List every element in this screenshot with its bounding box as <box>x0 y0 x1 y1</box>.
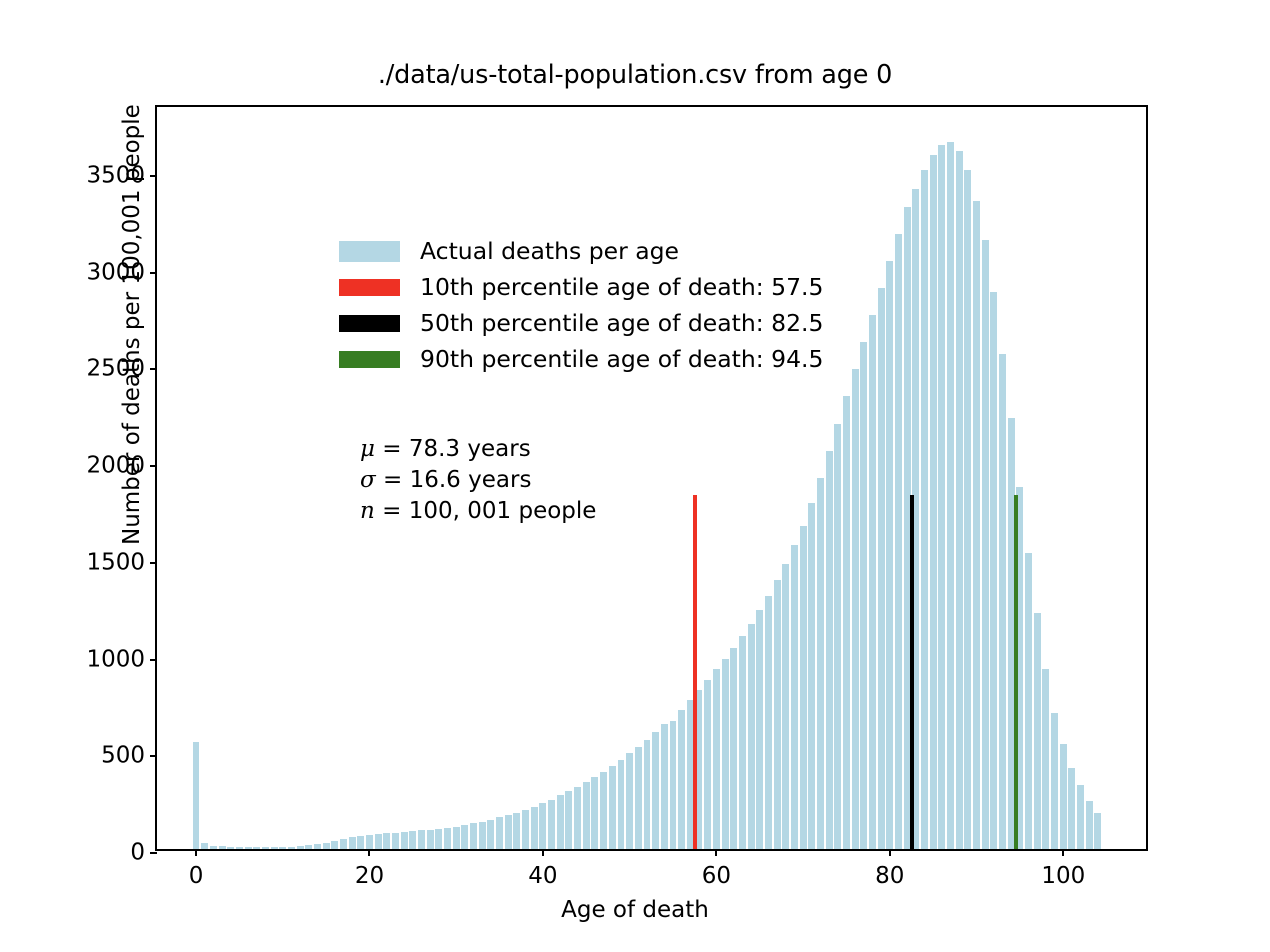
histogram-bar <box>401 832 408 849</box>
x-axis-label: Age of death <box>0 897 1270 923</box>
y-tick-mark <box>150 272 157 274</box>
chart-title: ./data/us-total-population.csv from age … <box>0 60 1270 90</box>
figure-canvas: ./data/us-total-population.csv from age … <box>0 0 1270 952</box>
90th-percentile-line <box>1014 495 1018 849</box>
histogram-bar <box>1025 553 1032 849</box>
sigma-equals: = <box>376 467 410 493</box>
histogram-bar <box>964 170 971 849</box>
legend-label: 90th percentile age of death: 94.5 <box>420 347 823 371</box>
histogram-bar <box>383 833 390 849</box>
histogram-bar <box>496 817 503 849</box>
histogram-bar <box>392 833 399 849</box>
histogram-bar <box>1034 613 1041 849</box>
histogram-bar <box>262 847 269 849</box>
histogram-bar <box>565 791 572 849</box>
histogram-bar <box>513 813 520 849</box>
statistics-annotation: μ = 78.3 years σ = 16.6 years n = 100, 0… <box>360 434 596 527</box>
y-tick-mark <box>150 465 157 467</box>
histogram-bar <box>539 803 546 849</box>
sigma-symbol: σ <box>360 467 376 493</box>
mu-value: 78.3 years <box>409 436 531 462</box>
histogram-bar <box>817 478 824 849</box>
n-symbol: n <box>360 498 375 524</box>
histogram-bar <box>366 835 373 849</box>
histogram-bar <box>193 742 200 849</box>
y-tick-label: 2500 <box>37 358 157 381</box>
histogram-bar <box>748 624 755 849</box>
histogram-bar <box>644 740 651 849</box>
y-tick-label: 1000 <box>37 648 157 671</box>
n-value: 100, 001 people <box>409 498 597 524</box>
histogram-bar <box>297 846 304 849</box>
stat-count: n = 100, 001 people <box>360 496 596 527</box>
y-tick-mark <box>150 659 157 661</box>
stat-stddev: σ = 16.6 years <box>360 465 596 496</box>
legend-color-swatch <box>339 241 400 262</box>
histogram-bar <box>956 151 963 849</box>
histogram-bar <box>1068 768 1075 849</box>
x-tick-mark <box>542 849 544 856</box>
y-tick-mark <box>150 175 157 177</box>
histogram-bar <box>522 810 529 849</box>
plot-axes: Number of deaths per 100,001 people 0500… <box>155 105 1148 851</box>
histogram-bar <box>505 815 512 849</box>
histogram-bar <box>722 659 729 850</box>
histogram-bar <box>357 836 364 849</box>
histogram-bar <box>531 807 538 849</box>
histogram-bar <box>765 596 772 849</box>
histogram-bar <box>574 787 581 849</box>
y-tick-label: 500 <box>37 745 157 768</box>
histogram-bar <box>730 648 737 849</box>
histogram-bar <box>852 369 859 849</box>
histogram-bar <box>435 829 442 849</box>
sigma-value: 16.6 years <box>410 467 532 493</box>
histogram-bar <box>626 753 633 849</box>
y-tick-mark <box>150 368 157 370</box>
histogram-bar <box>869 315 876 849</box>
histogram-bar <box>661 724 668 849</box>
histogram-bar <box>1051 713 1058 849</box>
y-tick-label: 0 <box>37 842 157 865</box>
histogram-bar <box>800 526 807 849</box>
histogram-bar <box>973 201 980 849</box>
legend-label: Actual deaths per age <box>420 239 679 263</box>
legend-item[interactable]: Actual deaths per age <box>339 233 939 269</box>
histogram-bar <box>826 451 833 849</box>
histogram-bar <box>808 503 815 849</box>
histogram-bar <box>938 145 945 849</box>
histogram-bar <box>990 292 997 849</box>
50th-percentile-line <box>910 495 914 849</box>
histogram-bar <box>774 580 781 849</box>
legend-color-swatch <box>339 351 400 368</box>
histogram-bar <box>782 564 789 849</box>
histogram-bar <box>418 830 425 849</box>
histogram-bar <box>470 823 477 849</box>
legend-item[interactable]: 90th percentile age of death: 94.5 <box>339 341 939 377</box>
histogram-bar <box>1094 813 1101 849</box>
histogram-bar <box>704 680 711 849</box>
x-tick-mark <box>715 849 717 856</box>
histogram-bar <box>860 342 867 849</box>
legend-item[interactable]: 10th percentile age of death: 57.5 <box>339 269 939 305</box>
legend-color-swatch <box>339 279 400 296</box>
histogram-bar <box>453 827 460 849</box>
histogram-bar <box>791 545 798 849</box>
histogram-bar <box>739 636 746 849</box>
histogram-bar <box>279 847 286 849</box>
histogram-bar <box>331 841 338 849</box>
histogram-bar <box>583 782 590 849</box>
histogram-bar <box>670 721 677 849</box>
histogram-bar <box>487 820 494 849</box>
histogram-bar <box>461 825 468 849</box>
histogram-bar <box>349 837 356 849</box>
histogram-bar <box>427 830 434 849</box>
histogram-bar <box>843 396 850 849</box>
histogram-bar <box>557 795 564 849</box>
histogram-bar <box>271 847 278 849</box>
histogram-bar <box>609 766 616 849</box>
histogram-bar <box>635 747 642 850</box>
histogram-bar <box>288 847 295 849</box>
histogram-bar <box>1042 669 1049 849</box>
plot-area <box>157 107 1146 849</box>
histogram-bar <box>340 839 347 849</box>
x-tick-mark <box>368 849 370 856</box>
histogram-bar <box>444 828 451 849</box>
histogram-bar <box>678 710 685 849</box>
y-tick-label: 3000 <box>37 261 157 284</box>
legend-label: 50th percentile age of death: 82.5 <box>420 311 823 335</box>
mu-equals: = <box>375 436 409 462</box>
x-tick-mark <box>889 849 891 856</box>
histogram-bar <box>982 240 989 849</box>
y-tick-label: 1500 <box>37 551 157 574</box>
legend-color-swatch <box>339 315 400 332</box>
histogram-bar <box>947 142 954 849</box>
histogram-bar <box>756 610 763 849</box>
histogram-bar <box>834 424 841 850</box>
histogram-bar <box>591 777 598 849</box>
histogram-bar <box>548 800 555 850</box>
histogram-bar <box>713 669 720 849</box>
histogram-bar <box>375 834 382 849</box>
histogram-bar <box>618 760 625 849</box>
y-tick-label: 2000 <box>37 455 157 478</box>
y-axis-label: Number of deaths per 100,001 people <box>119 245 145 545</box>
histogram-bar <box>305 845 312 849</box>
histogram-bar <box>1077 785 1084 849</box>
histogram-bar <box>652 732 659 849</box>
histogram-bar <box>1060 744 1067 849</box>
stat-mean: μ = 78.3 years <box>360 434 596 465</box>
10th-percentile-line <box>693 495 697 849</box>
n-equals: = <box>375 498 409 524</box>
legend-item[interactable]: 50th percentile age of death: 82.5 <box>339 305 939 341</box>
mu-symbol: μ <box>360 436 375 462</box>
histogram-bar <box>409 831 416 849</box>
histogram-bar <box>1086 801 1093 849</box>
y-tick-mark <box>150 755 157 757</box>
x-tick-mark <box>1062 849 1064 856</box>
legend-label: 10th percentile age of death: 57.5 <box>420 275 823 299</box>
x-tick-mark <box>195 849 197 856</box>
chart-legend: Actual deaths per age10th percentile age… <box>339 233 939 377</box>
histogram-bar <box>479 822 486 849</box>
histogram-bar <box>999 354 1006 849</box>
histogram-bar <box>253 847 260 849</box>
y-tick-label: 3500 <box>37 165 157 188</box>
histogram-bar <box>600 772 607 849</box>
y-tick-mark <box>150 562 157 564</box>
